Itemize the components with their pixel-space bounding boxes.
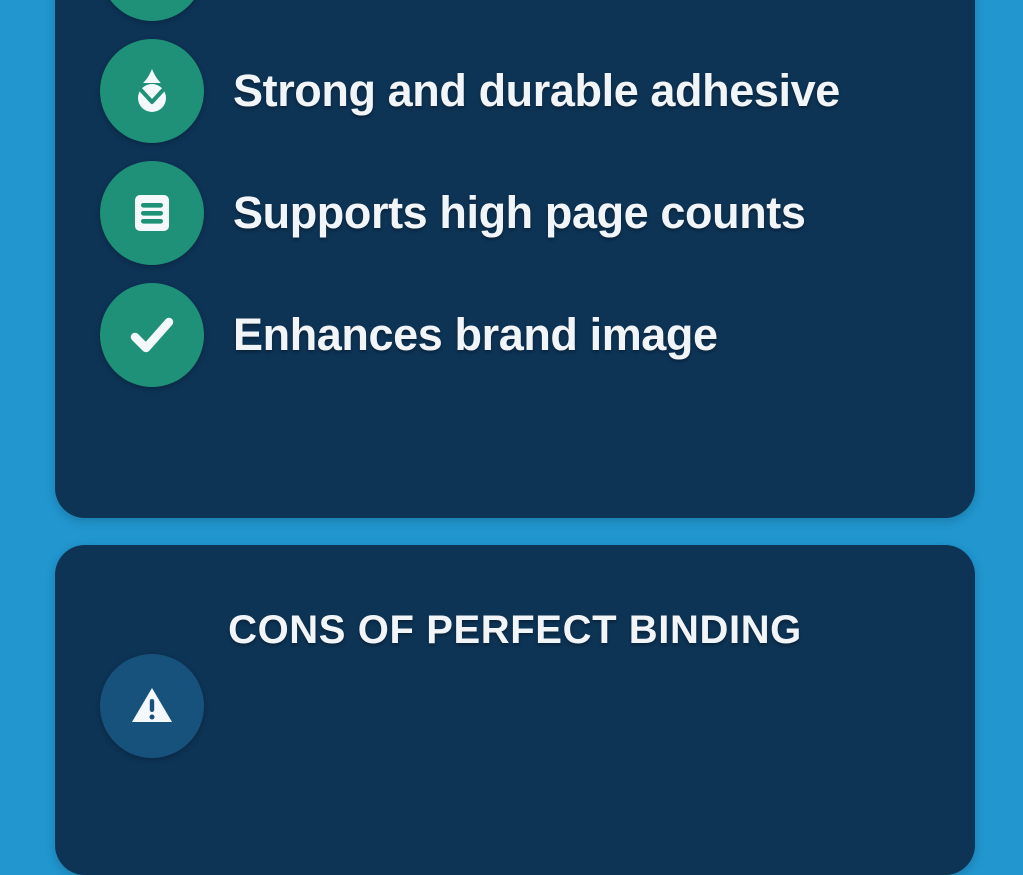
cons-of-perfect-binding-card: CONS OF PERFECT BINDING (55, 545, 975, 875)
list-item[interactable]: Enhances brand image (55, 274, 975, 396)
list-item[interactable]: Printable spine for titles/branding (55, 0, 975, 30)
document-pages-icon (100, 161, 204, 265)
list-item[interactable] (55, 645, 975, 767)
cons-feature-list (55, 645, 975, 767)
pros-of-perfect-binding-card: Printable spine for titles/branding Stro… (55, 0, 975, 518)
glue-drop-icon (100, 39, 204, 143)
list-item-label: Enhances brand image (233, 311, 718, 358)
pros-feature-list: Printable spine for titles/branding Stro… (55, 0, 975, 396)
list-item[interactable]: Supports high page counts (55, 152, 975, 274)
book-spine-icon (100, 0, 204, 21)
list-item[interactable]: Strong and durable adhesive (55, 30, 975, 152)
list-item-label: Supports high page counts (233, 189, 806, 236)
warning-icon (100, 654, 204, 758)
check-mark-icon (100, 283, 204, 387)
infographic-canvas: Printable spine for titles/branding Stro… (0, 0, 1023, 675)
list-item-label: Strong and durable adhesive (233, 67, 840, 114)
